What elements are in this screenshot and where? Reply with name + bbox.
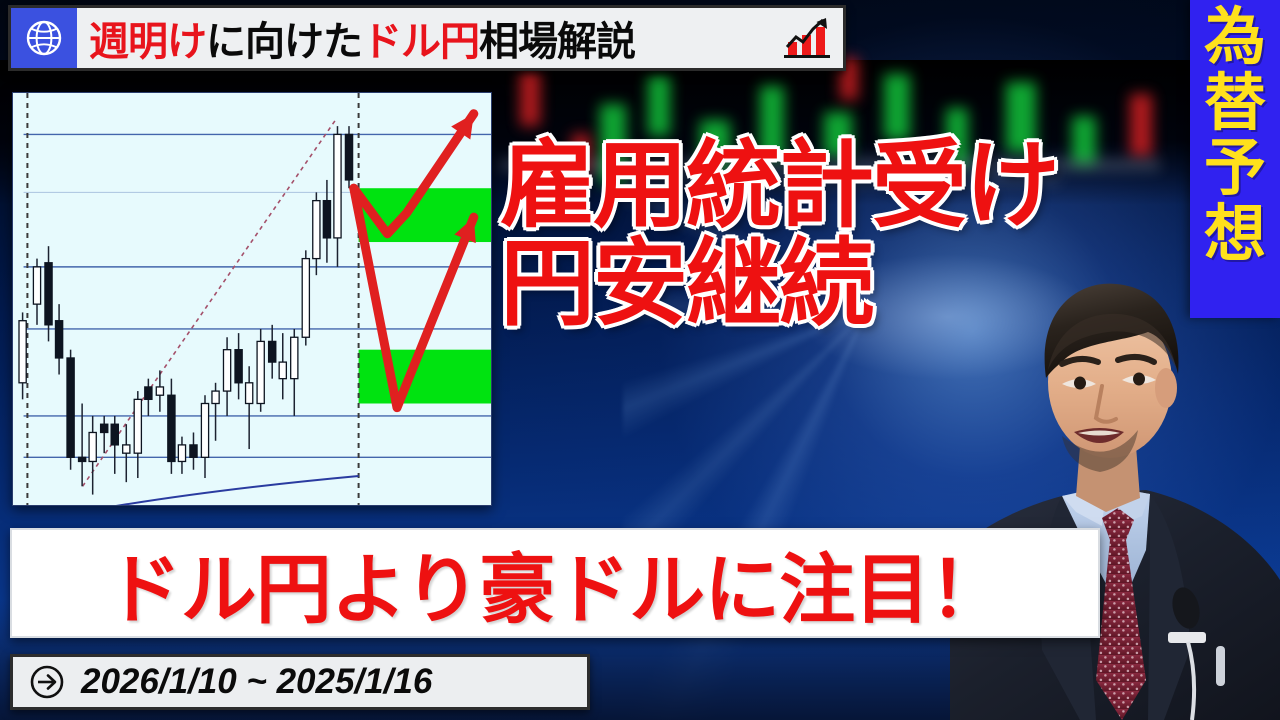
candle-body	[212, 391, 219, 403]
globe-icon	[24, 18, 64, 58]
side-strip-char-0: 為	[1204, 8, 1266, 68]
candle-body	[269, 341, 276, 362]
title-segment-3: ドル円	[362, 9, 479, 67]
candle-body	[19, 321, 26, 383]
side-strip-char-3: 想	[1204, 205, 1266, 265]
thumbnail-canvas: 週明けに向けたドル円相場解説 為 替 予 想 雇用統計受け 円安継続 ドル円より…	[0, 0, 1280, 720]
presenter-photo	[950, 250, 1280, 720]
candle-body	[223, 350, 230, 391]
candle-body	[89, 432, 96, 461]
title-segment-4: 相場解説	[479, 9, 635, 67]
side-strip-char-2: 予	[1204, 139, 1266, 199]
candle-body	[178, 445, 185, 462]
title-segment-1: 週明け	[89, 9, 206, 67]
lower-target-zone	[359, 350, 492, 404]
candle-body	[313, 201, 320, 259]
candle-body	[33, 267, 40, 304]
candle-body	[279, 362, 286, 379]
candle-body	[246, 383, 253, 404]
date-range-text: 2026/1/10 ~ 2025/1/16	[81, 662, 432, 702]
bar-chart-up-icon	[782, 15, 834, 61]
side-strip-char-1: 替	[1204, 74, 1266, 134]
candle-body	[302, 259, 309, 338]
side-strip: 為 替 予 想	[1190, 0, 1280, 318]
candle-body	[168, 395, 175, 461]
candle-body	[67, 358, 74, 457]
date-bar: 2026/1/10 ~ 2025/1/16	[10, 654, 590, 710]
globe-icon-cell	[11, 8, 77, 68]
title-bar: 週明けに向けたドル円相場解説	[8, 5, 846, 71]
candle-body	[79, 457, 86, 461]
candle-body	[291, 337, 298, 378]
title-segment-2: に向けた	[206, 9, 362, 67]
candlestick-chart	[13, 93, 492, 506]
candle-body	[145, 387, 152, 399]
candle-body	[334, 134, 341, 238]
chart-background	[13, 93, 492, 506]
chart-icon-cell	[779, 15, 843, 61]
candle-body	[235, 350, 242, 383]
candle-body	[323, 201, 330, 238]
candle-body	[156, 387, 163, 395]
lower-banner: ドル円より豪ドルに注目！	[10, 528, 1100, 638]
candle-body	[134, 399, 141, 453]
candlestick-chart-panel	[12, 92, 492, 506]
candle-body	[55, 321, 62, 358]
candle-body	[111, 424, 118, 445]
candle-body	[45, 263, 52, 325]
title-text: 週明けに向けたドル円相場解説	[77, 9, 779, 67]
candle-body	[345, 134, 352, 180]
arrow-right-circle-icon	[29, 664, 65, 700]
candle-body	[201, 404, 208, 458]
candle-body	[101, 424, 108, 432]
lower-banner-text: ドル円より豪ドルに注目！	[106, 528, 1004, 638]
candle-body	[257, 341, 264, 403]
candle-body	[123, 445, 130, 453]
candle-body	[190, 445, 197, 457]
